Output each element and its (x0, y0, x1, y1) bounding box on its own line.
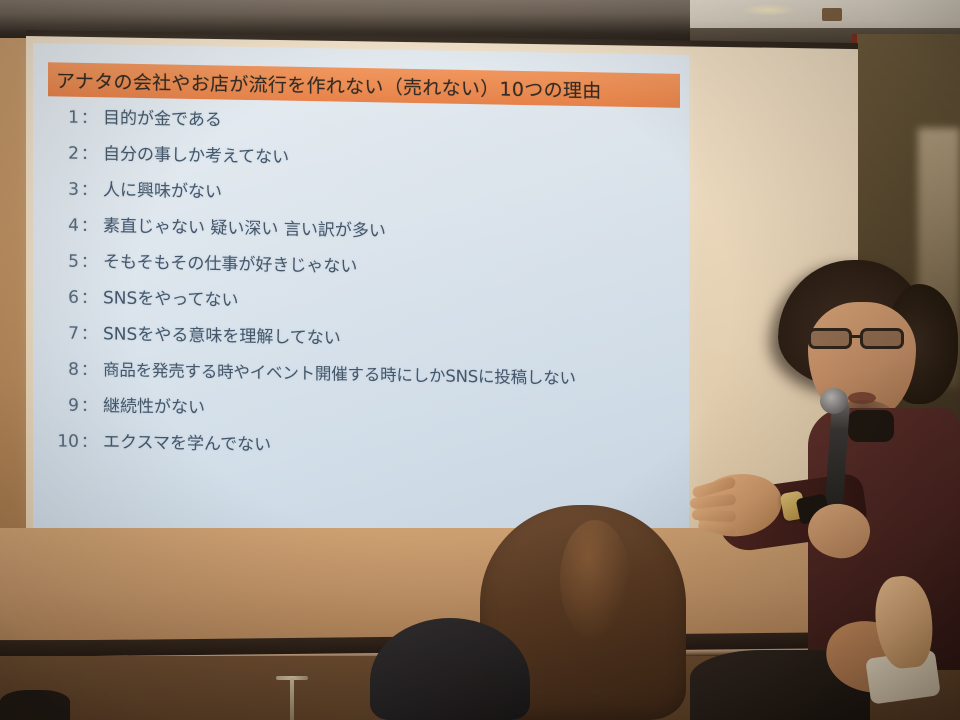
list-item-text: SNSをやる意味を理解してない (103, 326, 689, 354)
list-item-number: 4 (33, 217, 79, 235)
list-item-colon: ： (79, 326, 103, 342)
list-item-colon: ： (79, 182, 103, 198)
list-item-text: 継続性がない (103, 398, 689, 426)
glasses-left-lens (808, 328, 852, 349)
list-item-text: 自分の事しか考えてない (103, 146, 689, 174)
list-item: 7 ： SNSをやる意味を理解してない (33, 325, 689, 354)
list-item-text: 商品を発売する時やイベント開催する時にしかSNSに投稿しない (103, 362, 689, 389)
list-item: 9 ： 継続性がない (33, 397, 689, 426)
presenter-mouth (848, 392, 876, 404)
list-item-number: 5 (33, 253, 79, 271)
list-item-number: 8 (33, 361, 79, 379)
slide-title: アナタの会社やお店が流行を作れない（売れない）10つの理由 (56, 66, 602, 103)
glasses-icon (808, 328, 918, 350)
list-item: 8 ： 商品を発売する時やイベント開催する時にしかSNSに投稿しない (33, 361, 689, 390)
list-item: 6 ： SNSをやってない (33, 289, 689, 318)
microphone-head (820, 388, 848, 414)
glasses-right-lens (860, 328, 904, 349)
list-item: 1 ： 目的が金である (33, 109, 689, 138)
list-item: 5 ： そもそもその仕事が好きじゃない (33, 253, 689, 282)
list-item-text: 目的が金である (103, 110, 689, 138)
audience-hair-highlight (560, 520, 630, 640)
list-item-number: 3 (33, 181, 79, 199)
list-item-colon: ： (79, 362, 103, 378)
list-item-text: SNSをやってない (103, 290, 689, 318)
ceiling-light-glow (742, 4, 796, 16)
photo-scene: アナタの会社やお店が流行を作れない（売れない）10つの理由 1 ： 目的が金であ… (0, 0, 960, 720)
list-item-colon: ： (79, 218, 103, 234)
list-item: 4 ： 素直じゃない 疑い深い 言い訳が多い (33, 217, 689, 246)
slide-title-banner: アナタの会社やお店が流行を作れない（売れない）10つの理由 (48, 62, 680, 108)
housing-logo (822, 8, 842, 21)
list-item-text: 素直じゃない 疑い深い 言い訳が多い (103, 218, 689, 246)
list-item-number: 2 (33, 145, 79, 163)
list-item-colon: ： (79, 146, 103, 162)
list-item-colon: ： (79, 434, 103, 450)
projected-slide: アナタの会社やお店が流行を作れない（売れない）10つの理由 1 ： 目的が金であ… (33, 43, 689, 541)
list-item-number: 10 (33, 433, 79, 451)
list-item-number: 6 (33, 289, 79, 307)
list-item: 2 ： 自分の事しか考えてない (33, 145, 689, 174)
list-item: 3 ： 人に興味がない (33, 181, 689, 210)
list-item: 10 ： エクスマを学んでない (33, 433, 689, 462)
microphone-stand (290, 678, 294, 720)
list-item-colon: ： (79, 290, 103, 306)
list-item-colon: ： (79, 398, 103, 414)
audience-foreground-dark (0, 690, 70, 720)
presenter-finger (692, 509, 737, 522)
list-item-number: 1 (33, 109, 79, 127)
slide-reason-list: 1 ： 目的が金である 2 ： 自分の事しか考えてない 3 ： 人に興味がない … (33, 109, 689, 481)
list-item-text: そもそもその仕事が好きじゃない (103, 254, 689, 282)
list-item-text: エクスマを学んでない (103, 434, 689, 462)
list-item-colon: ： (79, 110, 103, 126)
list-item-number: 9 (33, 397, 79, 415)
list-item-number: 7 (33, 325, 79, 343)
list-item-text: 人に興味がない (103, 182, 689, 210)
list-item-colon: ： (79, 254, 103, 270)
presenter-neck (848, 410, 894, 442)
